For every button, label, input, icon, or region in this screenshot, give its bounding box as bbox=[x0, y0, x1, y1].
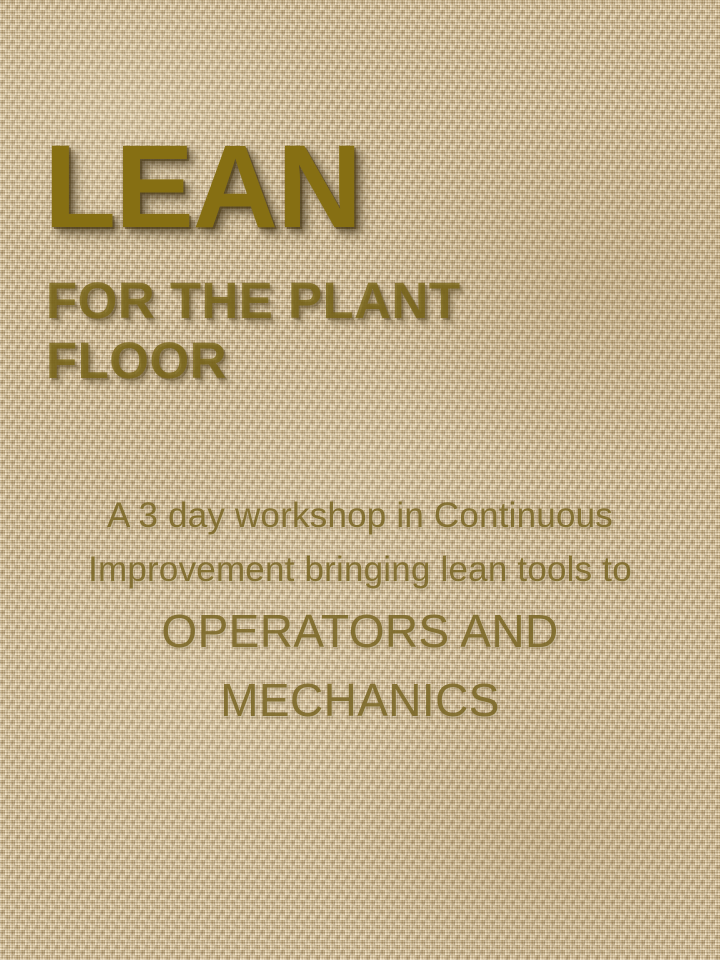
slide-title-sub-line-1: FOR THE PLANT bbox=[46, 272, 460, 329]
body-line-1: A 3 day workshop in Continuous bbox=[0, 489, 720, 543]
slide-body-text: A 3 day workshop in Continuous Improveme… bbox=[0, 489, 720, 735]
slide-title-sub: FOR THE PLANT FLOOR bbox=[46, 271, 606, 391]
slide-content: LEAN FOR THE PLANT FLOOR A 3 day worksho… bbox=[0, 0, 720, 960]
slide-title-main: LEAN bbox=[44, 128, 361, 246]
body-line-2: Improvement bringing lean tools to bbox=[0, 543, 720, 597]
body-line-3: OPERATORS AND bbox=[0, 597, 720, 666]
slide-title-sub-line-2: FLOOR bbox=[46, 332, 227, 389]
body-line-4: MECHANICS bbox=[0, 666, 720, 735]
presentation-slide: LEAN FOR THE PLANT FLOOR A 3 day worksho… bbox=[0, 0, 720, 960]
